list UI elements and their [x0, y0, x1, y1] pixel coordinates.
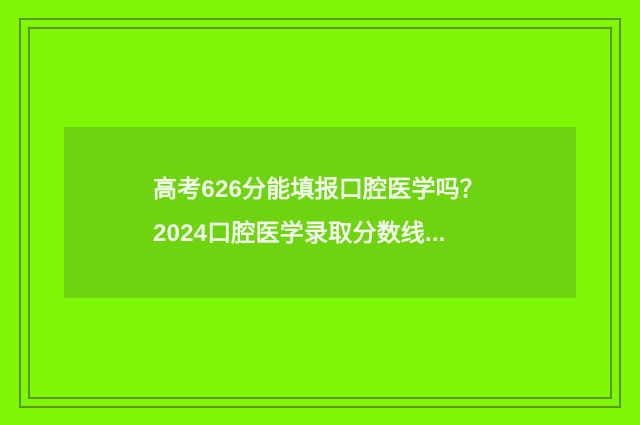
headline-line-1: 高考626分能填报口腔医学吗？ — [153, 168, 573, 212]
headline-text: 高考626分能填报口腔医学吗？ 2024口腔医学录取分数线... — [153, 168, 573, 256]
headline-line-2: 2024口腔医学录取分数线... — [153, 212, 573, 256]
promo-banner: 高考626分能填报口腔医学吗？ 2024口腔医学录取分数线... — [0, 0, 640, 425]
